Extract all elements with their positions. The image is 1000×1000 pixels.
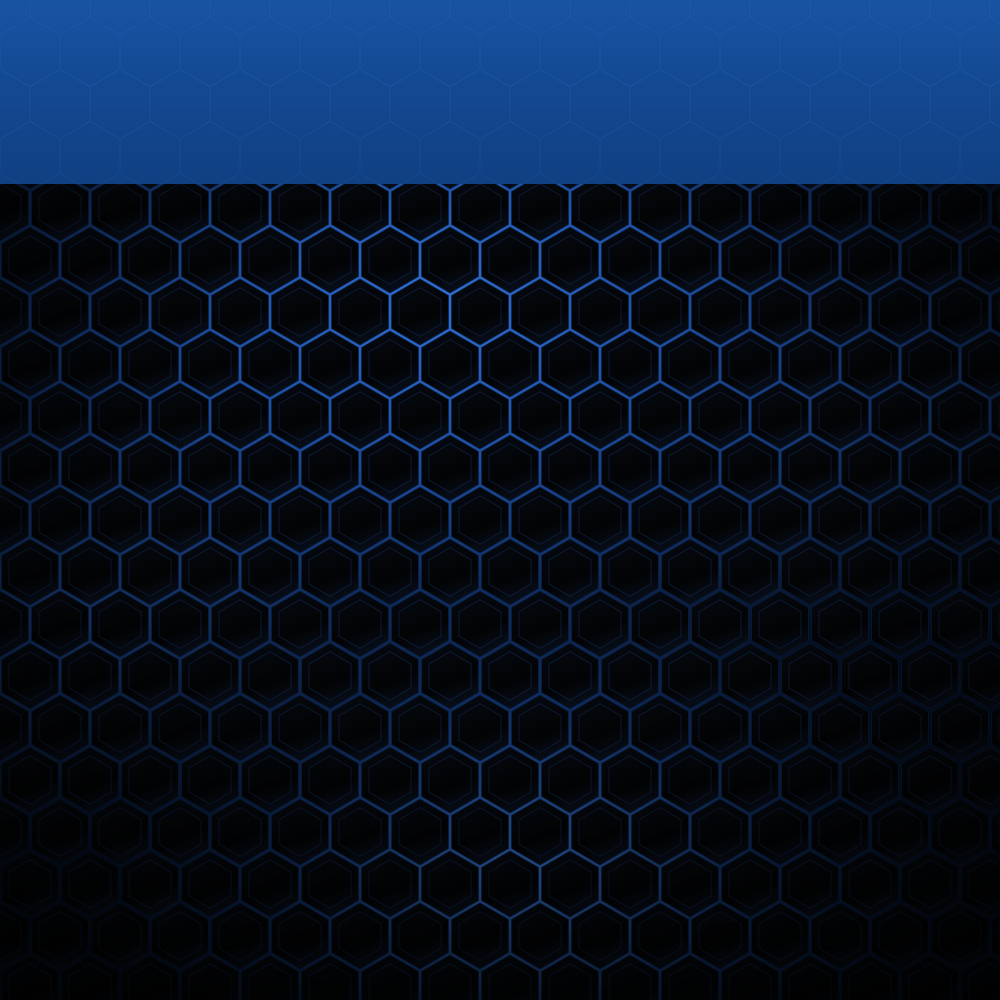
webinar-promo-card: Webinar Using Analytics to Evaluate Your… (0, 0, 1000, 1000)
header-band (0, 0, 1000, 184)
header-sheen-overlay (0, 0, 1000, 184)
